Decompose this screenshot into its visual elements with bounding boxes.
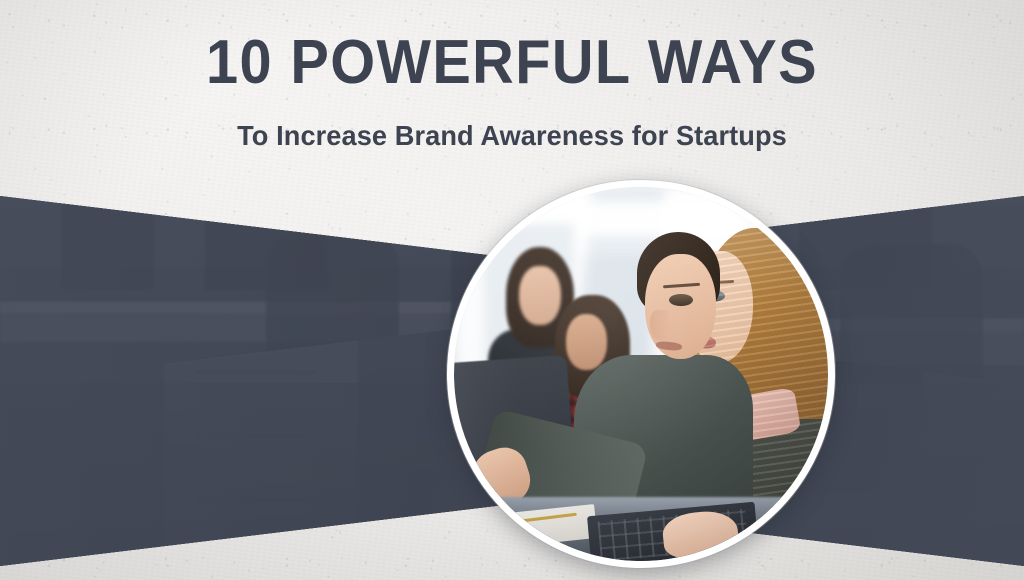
- page-subtitle: To Increase Brand Awareness for Startups: [15, 120, 1008, 152]
- person-back-woman-face: [519, 266, 560, 326]
- headline-block: 10 POWERFUL WAYS To Increase Brand Aware…: [0, 0, 1024, 152]
- team-portrait-image: [454, 187, 828, 561]
- portrait-monitor-button: [457, 488, 465, 497]
- person-man-nose: [650, 310, 669, 340]
- team-portrait-circle: [447, 180, 835, 568]
- page-title: 10 POWERFUL WAYS: [36, 32, 988, 94]
- person-second-woman-face: [566, 314, 607, 370]
- blog-header-banner: 10 POWERFUL WAYS To Increase Brand Aware…: [0, 0, 1024, 580]
